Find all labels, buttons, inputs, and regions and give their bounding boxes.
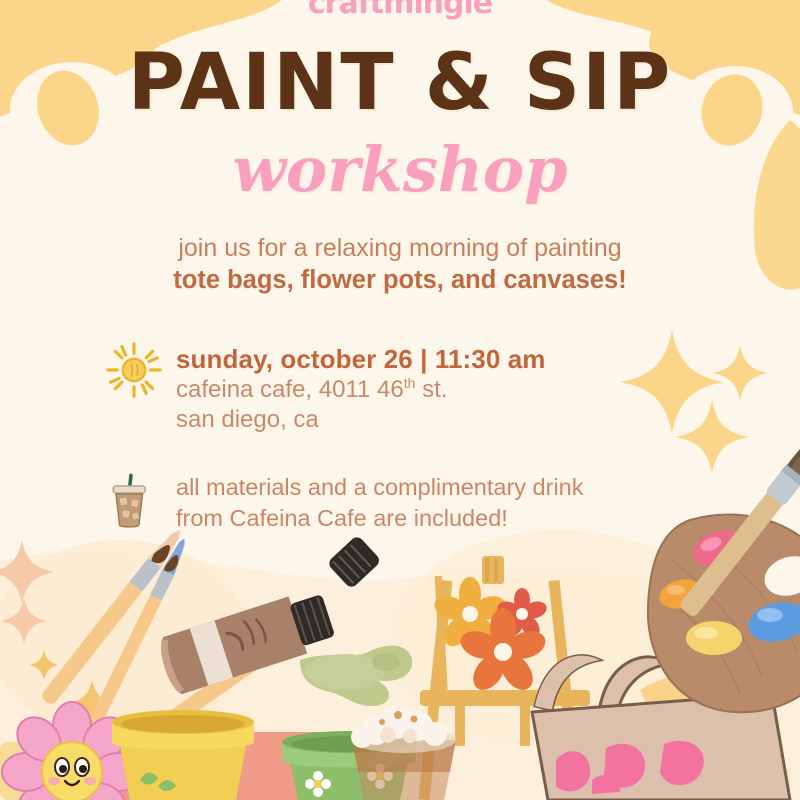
page-subtitle: workshop <box>0 139 800 201</box>
lead-copy: join us for a relaxing morning of painti… <box>0 232 800 297</box>
lead-line-2: tote bags, flower pots, and canvases! <box>0 264 800 297</box>
venue-ordinal: th <box>404 375 416 391</box>
event-date-line: sunday, october 26 | 11:30 am <box>176 344 546 375</box>
whipped-iced-coffee-icon <box>351 705 456 800</box>
perk-line-1: all materials and a complimentary drink <box>176 472 584 503</box>
lead-line-1: join us for a relaxing morning of painti… <box>178 234 621 262</box>
event-venue-line: cafeina cafe, 4011 46th st. <box>176 375 546 406</box>
page-title: PAINT & SIP <box>0 44 800 122</box>
perks-block: all materials and a complimentary drink … <box>106 470 726 540</box>
iced-coffee-icon <box>106 470 162 540</box>
pot-yellow-icon <box>112 710 254 800</box>
paint-blob-yellow <box>686 621 742 655</box>
venue-text: cafeina cafe, 4011 46 <box>176 376 404 403</box>
event-city-line: san diego, ca <box>176 405 546 436</box>
poster-canvas: craftmingle PAINT & SIP workshop join us… <box>0 0 800 800</box>
paint-palette-icon <box>648 412 800 712</box>
perk-line-2: from Cafeina Cafe are included! <box>176 503 584 534</box>
venue-suffix: st. <box>415 376 447 403</box>
brand-logo: craftmingle <box>0 0 800 21</box>
sun-icon <box>106 342 162 412</box>
event-details-block: sunday, october 26 | 11:30 am cafeina ca… <box>106 342 726 436</box>
